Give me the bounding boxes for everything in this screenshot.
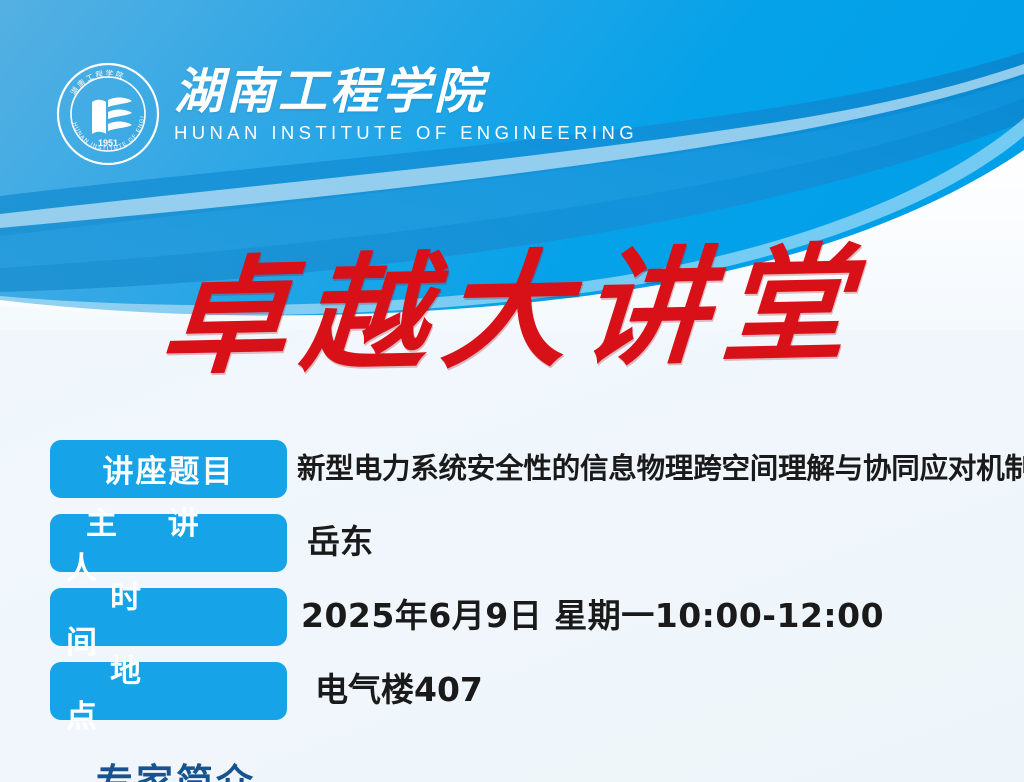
- headline-text: 卓越大讲堂: [157, 239, 867, 385]
- info-label-topic: 讲座题目: [50, 440, 287, 498]
- info-label-time: 时 间: [50, 588, 287, 646]
- lecture-info-list: 讲座题目 新型电力系统安全性的信息物理跨空间理解与协同应对机制 主 讲 人 岳东…: [50, 438, 1010, 734]
- info-value-place: 电气楼407: [315, 672, 1010, 708]
- university-seal-icon: 1951 湖南工程学院 HUNAN INSTITUTE OF ENGINEERI…: [56, 62, 160, 166]
- university-wordmark: 湖南工程学院 HUNAN INSTITUTE OF ENGINEERING: [174, 62, 638, 144]
- info-value-time: 2025年6月9日 星期一10:00-12:00: [301, 598, 1010, 634]
- info-value-speaker: 岳东: [307, 524, 1010, 560]
- info-row-speaker: 主 讲 人 岳东: [50, 512, 1010, 573]
- info-row-time: 时 间 2025年6月9日 星期一10:00-12:00: [50, 586, 1010, 647]
- info-row-place: 地 点 电气楼407: [50, 660, 1010, 721]
- lecture-poster: 1951 湖南工程学院 HUNAN INSTITUTE OF ENGINEERI…: [0, 0, 1024, 782]
- poster-headline: 卓越大讲堂: [0, 246, 1024, 377]
- info-row-topic: 讲座题目 新型电力系统安全性的信息物理跨空间理解与协同应对机制: [50, 438, 1010, 499]
- info-value-topic: 新型电力系统安全性的信息物理跨空间理解与协同应对机制: [297, 453, 1024, 484]
- info-label-place: 地 点: [50, 662, 287, 720]
- section-heading-speaker-bio: 专家简介: [96, 752, 256, 782]
- svg-text:湖南工程学院: 湖南工程学院: [69, 68, 127, 97]
- university-logo: 1951 湖南工程学院 HUNAN INSTITUTE OF ENGINEERI…: [56, 62, 638, 166]
- university-name-en: HUNAN INSTITUTE OF ENGINEERING: [174, 122, 638, 144]
- university-name-cn: 湖南工程学院: [174, 66, 638, 118]
- info-label-speaker: 主 讲 人: [50, 514, 287, 572]
